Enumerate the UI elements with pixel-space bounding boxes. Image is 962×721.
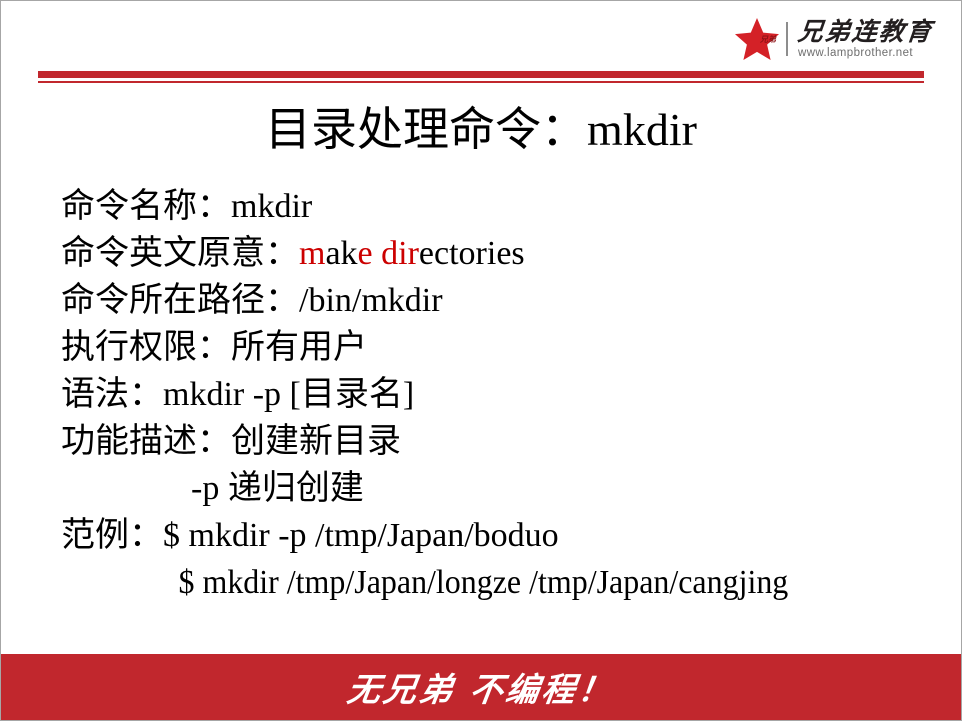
logo-divider bbox=[786, 22, 788, 56]
english-meaning-space bbox=[373, 235, 382, 272]
body-line-command-path: 命令所在路径：/bin/mkdir bbox=[61, 277, 931, 324]
page-title: 目录处理命令：mkdir bbox=[1, 105, 961, 156]
english-meaning-seg-5: dir bbox=[381, 235, 419, 272]
body-line-syntax: 语法：mkdir -p [目录名] bbox=[61, 371, 931, 418]
slide-canvas: 兄弟 兄弟连教育 www.lampbrother.net 目录处理命令：mkdi… bbox=[0, 0, 962, 721]
body-line-description: 功能描述：创建新目录 bbox=[61, 418, 931, 465]
footer-banner: 无兄弟 不编程！ bbox=[1, 654, 961, 720]
body-line-english-meaning: 命令英文原意：make directories bbox=[61, 230, 931, 277]
brand-name-cn: 兄弟连教育 bbox=[797, 19, 935, 44]
body-line-english-meaning-label: 命令英文原意： bbox=[61, 235, 299, 272]
svg-text:兄弟: 兄弟 bbox=[759, 34, 777, 44]
footer-slogan: 无兄弟 不编程！ bbox=[344, 663, 617, 711]
header-rule-thin bbox=[38, 81, 924, 83]
brand-url: www.lampbrother.net bbox=[798, 48, 933, 60]
header-rule-thick bbox=[38, 71, 924, 78]
english-meaning-seg-6: ectories bbox=[419, 235, 525, 272]
brand-wordmark: 兄弟连教育 www.lampbrother.net bbox=[798, 19, 933, 60]
body-line-permissions: 执行权限：所有用户 bbox=[61, 324, 931, 371]
english-meaning-seg-2: ak bbox=[325, 235, 357, 272]
english-meaning-seg-1: m bbox=[299, 235, 325, 272]
brand-logo: 兄弟 兄弟连教育 www.lampbrother.net bbox=[734, 15, 933, 63]
body-line-option-p: -p 递归创建 bbox=[61, 465, 931, 512]
slide-body: 命令名称：mkdir 命令英文原意：make directories 命令所在路… bbox=[61, 183, 931, 606]
body-line-example-1: 范例：$ mkdir -p /tmp/Japan/boduo bbox=[61, 512, 931, 559]
body-line-example-2: $ mkdir /tmp/Japan/longze /tmp/Japan/can… bbox=[61, 559, 879, 606]
english-meaning-seg-3: e bbox=[358, 235, 373, 272]
body-line-command-name: 命令名称：mkdir bbox=[61, 183, 931, 230]
red-star-icon: 兄弟 bbox=[734, 16, 780, 62]
